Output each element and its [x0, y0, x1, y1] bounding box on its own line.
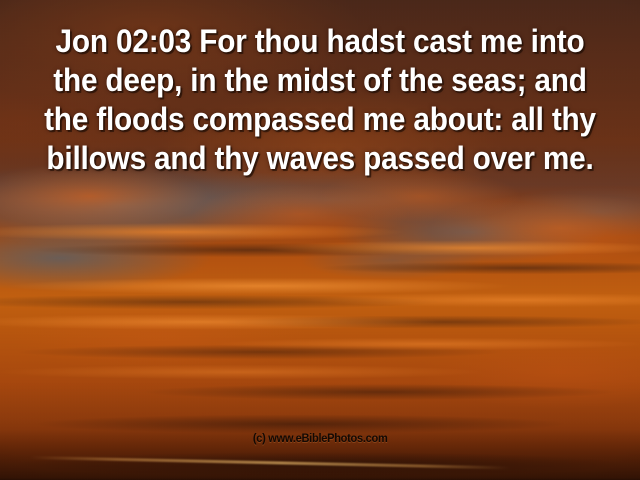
verse-line-3: the floods compassed me about: all thy	[35, 100, 604, 139]
verse-text-block: Jon 02:03 For thou hadst cast me into th…	[0, 22, 640, 178]
watermark-text: (c) www.eBiblePhotos.com	[253, 432, 388, 445]
verse-line-4: billows and thy waves passed over me.	[35, 139, 604, 178]
verse-image-canvas: Jon 02:03 For thou hadst cast me into th…	[0, 0, 640, 480]
watermark: (c) www.eBiblePhotos.com	[0, 429, 640, 447]
verse-line-2: the deep, in the midst of the seas; and	[35, 61, 604, 100]
verse-line-1: Jon 02:03 For thou hadst cast me into	[35, 22, 604, 61]
